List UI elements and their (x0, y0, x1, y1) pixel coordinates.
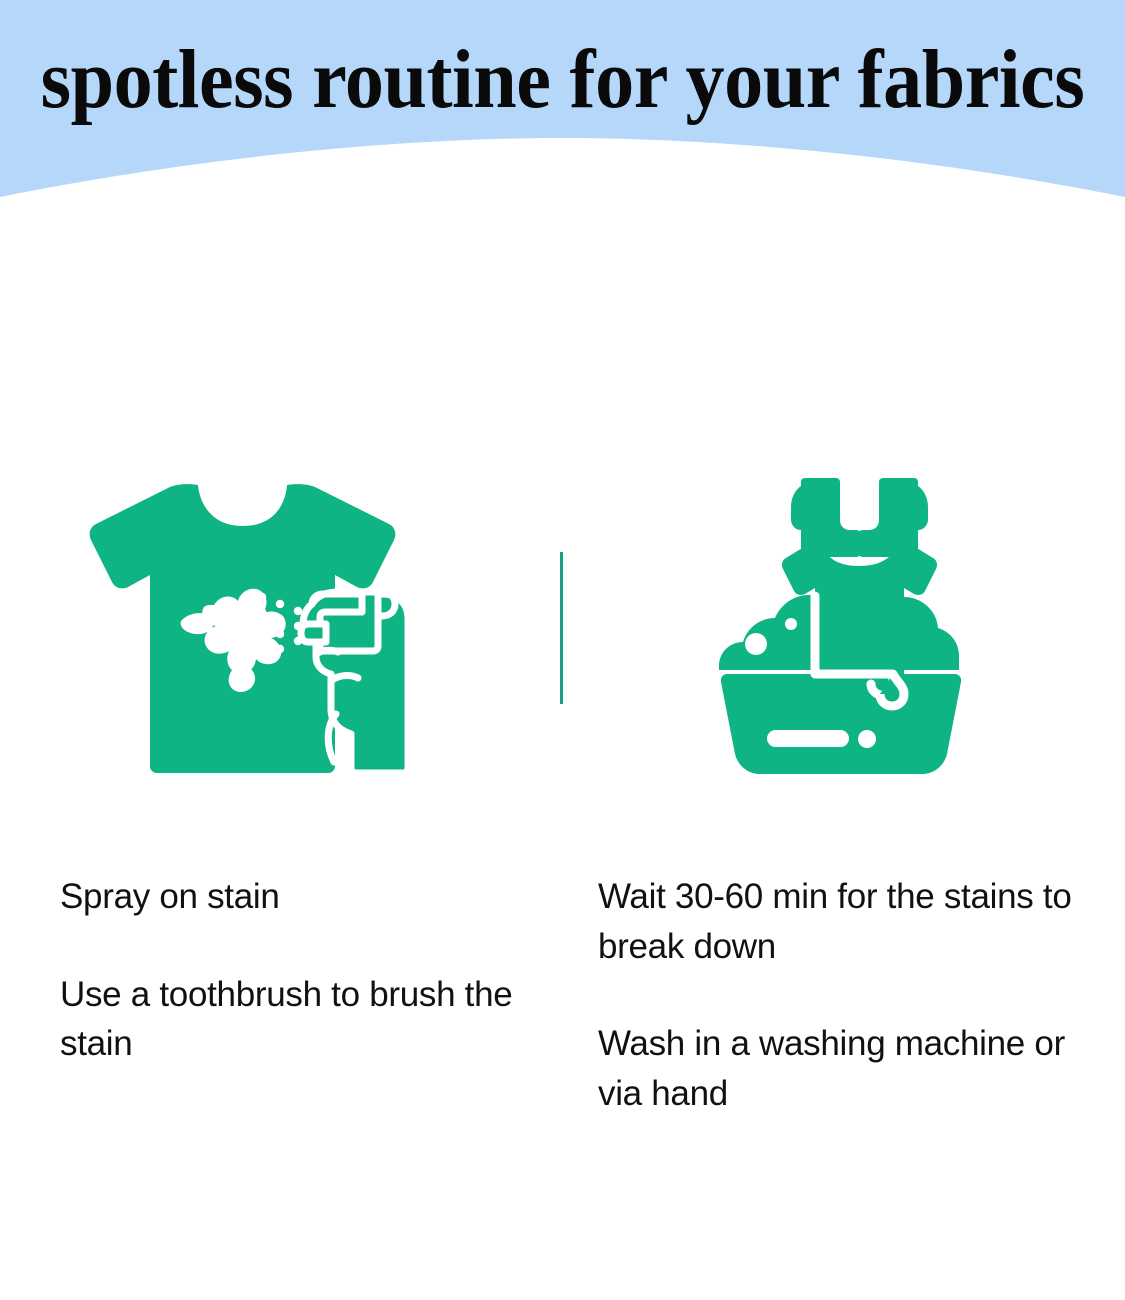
step-text: Use a toothbrush to brush the stain (60, 970, 530, 1069)
step-text: Wait 30-60 min for the stains to break d… (598, 872, 1088, 971)
steps-column-right: Wait 30-60 min for the stains to break d… (598, 872, 1088, 1119)
column-divider (560, 552, 563, 704)
header-banner: spotless routine for your fabrics (0, 0, 1125, 210)
step-text: Wash in a washing machine or via hand (598, 1019, 1088, 1118)
tshirt-spray-bottle-icon (86, 478, 446, 778)
hands-washing-basin-icon (705, 478, 977, 778)
step-text: Spray on stain (60, 872, 530, 922)
steps-column-left: Spray on stain Use a toothbrush to brush… (60, 872, 530, 1069)
page-title: spotless routine for your fabrics (39, 38, 1085, 122)
